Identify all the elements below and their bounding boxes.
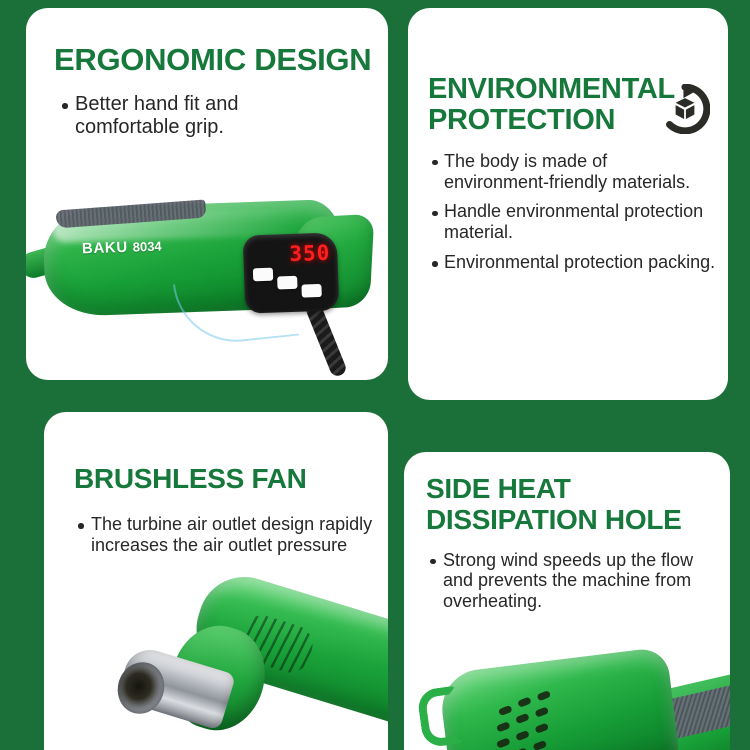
bullet-list-brushless: The turbine air outlet design rapidly in…: [78, 514, 378, 556]
bullet-item: Better hand fit and comfortable grip.: [62, 93, 312, 139]
feature-card-ergonomic: BAKU8034 350 ERGONOMIC DESIGN Better han…: [26, 8, 388, 380]
bullet-item: The turbine air outlet design rapidly in…: [78, 514, 378, 556]
bullet-text: The body is made of environment-friendly…: [444, 151, 717, 193]
feature-card-environmental: ENVIRONMENTAL PROTECTION The body is mad…: [408, 8, 728, 400]
bullet-item: Handle environmental protection material…: [432, 201, 717, 243]
bullet-list-sideheat: Strong wind speeds up the flow and preve…: [430, 550, 712, 613]
bullet-dot-icon: [432, 160, 438, 166]
bullet-text: Environmental protection packing.: [444, 252, 717, 273]
bullet-dot-icon: [432, 211, 438, 217]
bullet-dot-icon: [432, 261, 438, 267]
card-title-brushless: BRUSHLESS FAN: [74, 464, 388, 494]
bullet-item: Environmental protection packing.: [432, 252, 717, 273]
bullet-list-environmental: The body is made of environment-friendly…: [432, 151, 717, 273]
recycle-package-icon: [660, 84, 710, 134]
bullet-dot-icon: [62, 103, 68, 109]
bullet-list-ergonomic: Better hand fit and comfortable grip.: [62, 93, 312, 139]
bullet-item: The body is made of environment-friendly…: [432, 151, 717, 193]
bullet-text: Strong wind speeds up the flow and preve…: [443, 550, 712, 613]
bullet-text: The turbine air outlet design rapidly in…: [91, 514, 378, 556]
bullet-item: Strong wind speeds up the flow and preve…: [430, 550, 712, 613]
bullet-text: Better hand fit and comfortable grip.: [75, 93, 312, 139]
product-feature-poster: BAKU8034 350 ERGONOMIC DESIGN Better han…: [0, 0, 750, 750]
bullet-text: Handle environmental protection material…: [444, 201, 717, 243]
bullet-dot-icon: [430, 559, 436, 565]
feature-card-brushless: BRUSHLESS FAN The turbine air outlet des…: [44, 412, 388, 750]
feature-card-sideheat: SIDE HEAT DISSIPATION HOLE Strong wind s…: [404, 452, 730, 750]
card-title-ergonomic: ERGONOMIC DESIGN: [54, 44, 388, 77]
card-title-sideheat: SIDE HEAT DISSIPATION HOLE: [426, 474, 730, 536]
bullet-dot-icon: [78, 523, 84, 529]
